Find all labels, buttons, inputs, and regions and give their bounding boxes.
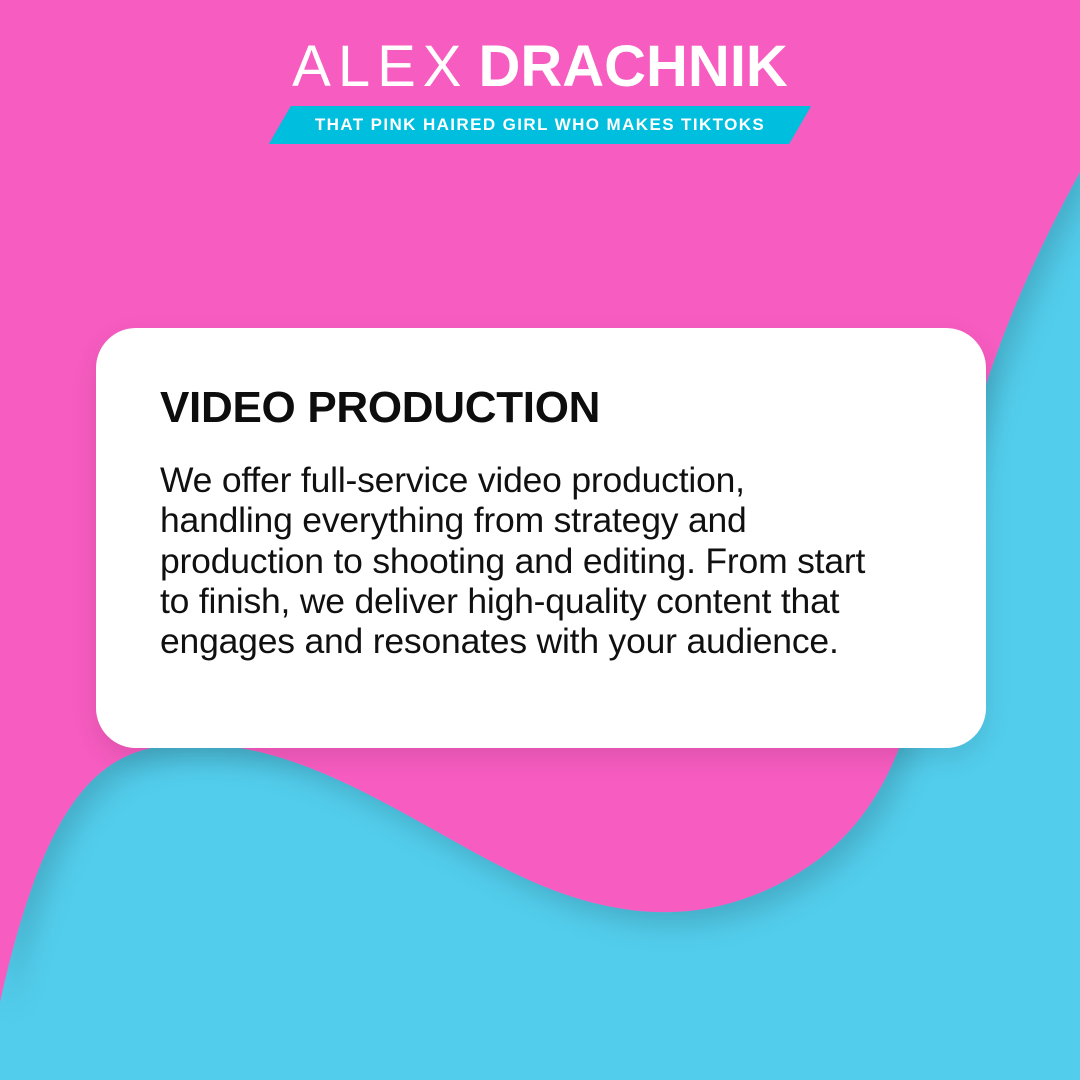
card-title: VIDEO PRODUCTION bbox=[160, 386, 924, 430]
brand-name-last: DRACHNIK bbox=[479, 34, 788, 99]
service-card: VIDEO PRODUCTION We offer full-service v… bbox=[96, 328, 986, 748]
card-body-text: We offer full-service video production, … bbox=[160, 460, 872, 661]
brand-header: ALEXDRACHNIK THAT PINK HAIRED GIRL WHO M… bbox=[0, 0, 1080, 144]
brand-wordmark: ALEXDRACHNIK bbox=[0, 38, 1080, 96]
brand-name-first: ALEX bbox=[292, 34, 468, 99]
tagline-banner: THAT PINK HAIRED GIRL WHO MAKES TIKTOKS bbox=[269, 106, 811, 144]
